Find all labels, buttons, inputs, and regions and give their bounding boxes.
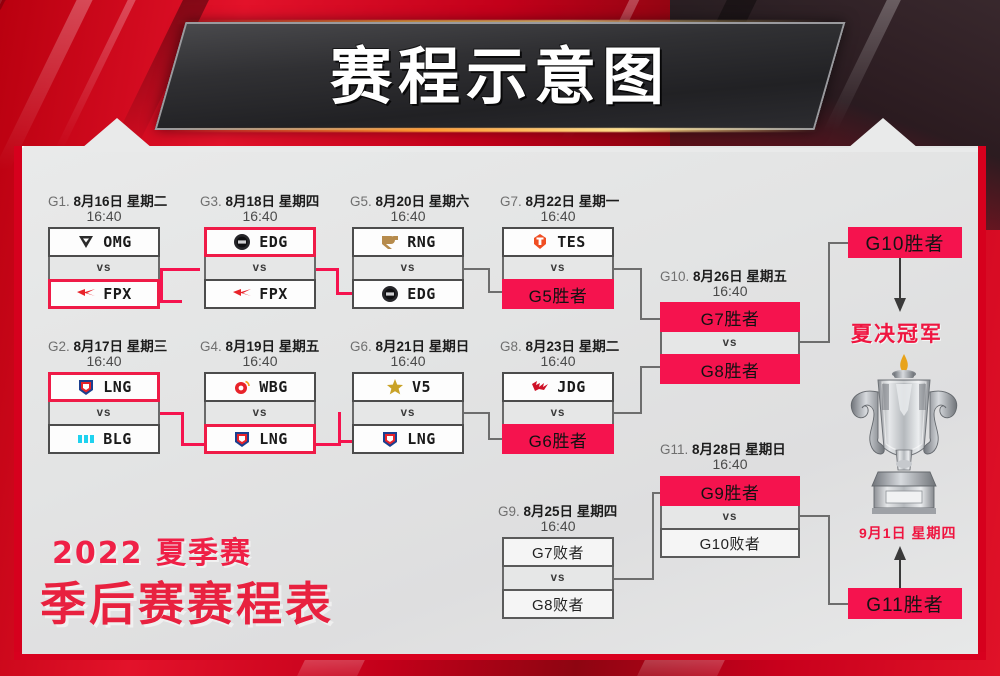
connector [828,515,830,605]
match-slot-top[interactable]: V5 [352,372,464,402]
match-label-g6: G6. 8月21日 星期日 [350,335,469,355]
match-time-g9: 16:40 [502,518,614,534]
vs-label: vs [502,567,614,589]
connector [464,268,490,270]
match-slot-bottom[interactable]: LNG [352,424,464,454]
match-label-g4: G4. 8月19日 星期五 [200,335,319,355]
match-slot-bottom[interactable]: G8败者 [502,589,614,619]
rng-logo [380,233,400,251]
connector [181,443,204,446]
match-slot-top[interactable]: LNG [48,372,160,402]
fpx-logo [232,285,252,303]
match-label-g11: G11. 8月28日 星期日 [660,438,786,458]
match-slot-top[interactable]: TES [502,227,614,257]
match-time-g10: 16:40 [660,283,800,299]
match-slot-bottom[interactable]: BLG [48,424,160,454]
wbg-logo [232,378,252,396]
match-card-g1[interactable]: OMG vs FPX [48,227,160,309]
match-slot-bottom[interactable]: G8胜者 [660,354,800,384]
match-time-g6: 16:40 [352,353,464,369]
match-label-g3: G3. 8月18日 星期四 [200,190,319,210]
match-label-g9: G9. 8月25日 星期四 [498,500,617,520]
connector [488,268,490,293]
connector [828,242,830,343]
omg-logo [76,233,96,251]
vs-label: vs [660,332,800,354]
match-slot-bottom[interactable]: G10败者 [660,528,800,558]
jdg-logo [530,378,550,396]
match-slot-top[interactable]: G9胜者 [660,476,800,506]
footer-season-title: 2022 夏季赛 [52,528,252,572]
footer-main-title: 季后赛赛程表 [40,568,334,634]
connector [160,268,163,303]
champion-date: 9月1日 星期四 [859,523,956,543]
connector [464,412,490,414]
match-label-g1: G1. 8月16日 星期二 [48,190,167,210]
connector [828,242,848,244]
connector [160,268,200,271]
vs-label: vs [204,257,316,279]
match-time-g1: 16:40 [48,208,160,224]
connector [828,603,850,605]
match-label-g8: G8. 8月23日 星期二 [500,335,619,355]
vs-label: vs [660,506,800,528]
match-card-g4[interactable]: WBG vs LNG [204,372,316,454]
connector [181,412,184,446]
v5-logo [385,378,405,396]
connector [614,268,642,270]
match-card-g2[interactable]: LNG vs BLG [48,372,160,454]
connector [488,412,490,440]
match-slot-top[interactable]: G7胜者 [660,302,800,332]
vs-label: vs [502,257,614,279]
fpx-logo [76,285,96,303]
match-card-g5[interactable]: RNG vs EDG [352,227,464,309]
match-card-g7[interactable]: TES vs G5胜者 [502,227,614,309]
match-card-g6[interactable]: V5 vs LNG [352,372,464,454]
match-card-g9[interactable]: G7败者 vs G8败者 [502,537,614,619]
match-label-g10: G10. 8月26日 星期五 [660,265,787,285]
vs-label: vs [48,402,160,424]
match-slot-top[interactable]: JDG [502,372,614,402]
page-title: 赛程示意图 [0,26,1000,116]
match-time-g4: 16:40 [204,353,316,369]
connector [640,268,642,320]
match-time-g3: 16:40 [204,208,316,224]
match-slot-top[interactable]: OMG [48,227,160,257]
advancer-g11-winner[interactable]: G11胜者 [848,588,962,619]
match-time-g8: 16:40 [502,353,614,369]
connector [614,578,654,580]
advancer-g10-winner[interactable]: G10胜者 [848,227,962,258]
match-slot-top[interactable]: EDG [204,227,316,257]
match-card-g8[interactable]: JDG vs G6胜者 [502,372,614,454]
connector [800,341,830,343]
panel-edge-right [977,146,986,654]
connector [652,492,654,580]
connector [640,318,662,320]
match-card-g3[interactable]: EDG vs FPX [204,227,316,309]
match-card-g10[interactable]: G7胜者 vs G8胜者 [660,302,800,384]
match-slot-bottom[interactable]: EDG [352,279,464,309]
match-time-g2: 16:40 [48,353,160,369]
match-slot-bottom[interactable]: FPX [48,279,160,309]
connector [336,268,339,294]
tes-logo [530,233,550,251]
match-time-g5: 16:40 [352,208,464,224]
vs-label: vs [502,402,614,424]
lng-logo [76,378,96,396]
match-slot-top[interactable]: G7败者 [502,537,614,567]
vs-label: vs [48,257,160,279]
connector [316,268,338,271]
connector [640,366,662,368]
panel-peak-decoration [22,118,978,152]
vs-label: vs [204,402,316,424]
match-label-g7: G7. 8月22日 星期一 [500,190,619,210]
lng-logo [232,430,252,448]
connector [160,300,182,303]
trophy-icon [838,352,970,517]
match-time-g11: 16:40 [660,456,800,472]
connector [800,515,830,517]
match-label-g2: G2. 8月17日 星期三 [48,335,167,355]
match-slot-top[interactable]: RNG [352,227,464,257]
match-slot-top[interactable]: WBG [204,372,316,402]
blg-logo [76,430,96,448]
match-card-g11[interactable]: G9胜者 vs G10败者 [660,476,800,558]
schedule-infographic: 赛程示意图 [0,0,1000,676]
connector [614,412,642,414]
match-slot-bottom[interactable]: G6胜者 [502,424,614,454]
edg-logo [232,233,252,251]
champion-label: 夏决冠军 [851,318,943,348]
connector [316,443,340,446]
match-slot-bottom[interactable]: G5胜者 [502,279,614,309]
edg-logo [380,285,400,303]
match-slot-bottom[interactable]: FPX [204,279,316,309]
connector [640,366,642,414]
lng-logo [380,430,400,448]
vs-label: vs [352,402,464,424]
match-time-g7: 16:40 [502,208,614,224]
arrow-down-icon [892,252,908,314]
match-slot-bottom[interactable]: LNG [204,424,316,454]
match-label-g5: G5. 8月20日 星期六 [350,190,469,210]
vs-label: vs [352,257,464,279]
